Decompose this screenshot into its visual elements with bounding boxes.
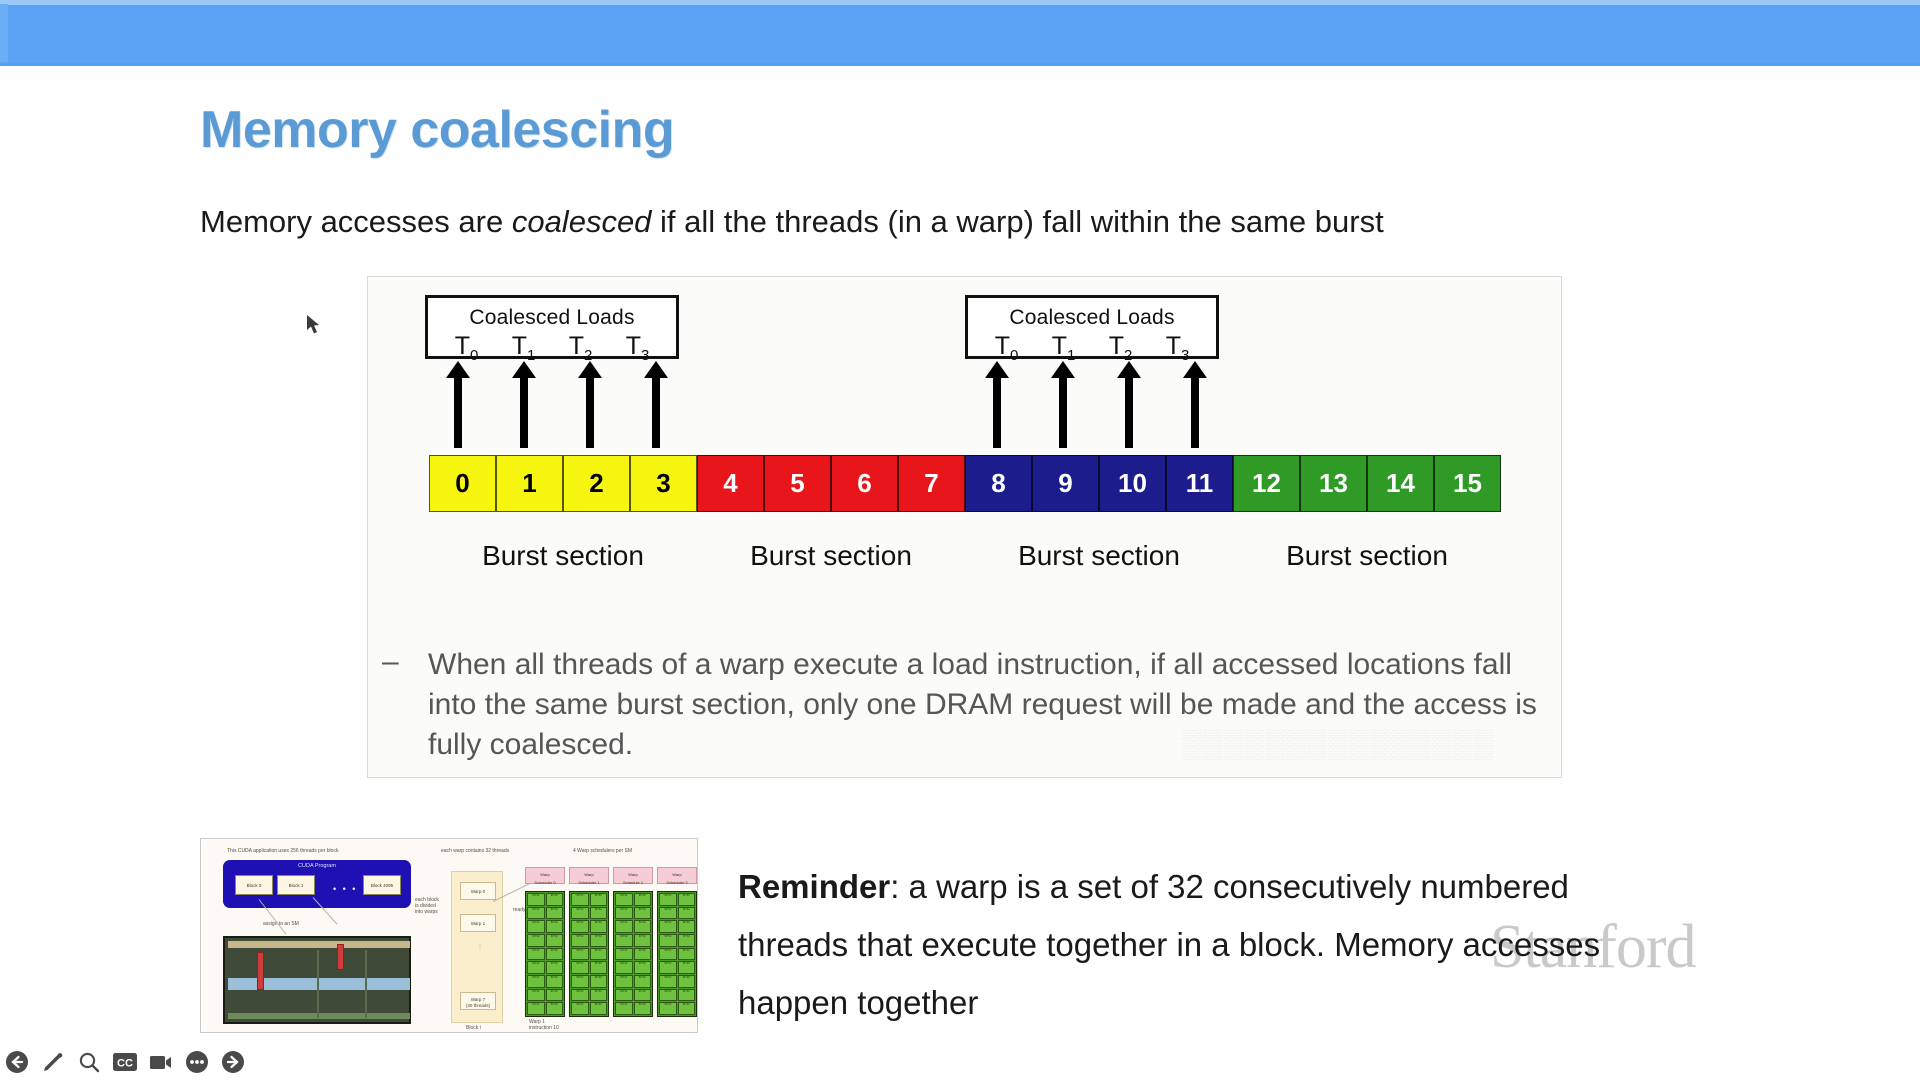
coalesced-loads-box-left: Coalesced Loads T0 T1 T2 T3: [425, 295, 679, 359]
reminder-label: Reminder: [738, 868, 890, 905]
forward-arrow-icon[interactable]: [220, 1049, 246, 1075]
player-toolbar: CC: [0, 1044, 1920, 1080]
sm-core-cell: INT32: [527, 961, 545, 974]
sm-core-cell: INT32: [546, 975, 564, 988]
burst-section-label-3: Burst section: [965, 540, 1233, 572]
reminder-paragraph: Reminder: a warp is a set of 32 consecut…: [738, 858, 1688, 1032]
sm-core-cell: INT32: [634, 934, 652, 947]
block-ellipsis: • • •: [333, 884, 357, 894]
thread-labels-row: T0 T1 T2 T3: [428, 332, 676, 364]
warp-instruction-label: Warp 1instruction 10: [529, 1019, 559, 1031]
sm-core-cell: INT32: [571, 975, 589, 988]
subtitle-part-1: Memory accesses are: [200, 204, 512, 239]
coalesced-loads-box-right: Coalesced Loads T0 T1 T2 T3: [965, 295, 1219, 359]
sm-core-cell: INT32: [571, 961, 589, 974]
each-block-note: each blockis dividedinto warps: [415, 897, 445, 915]
sm-core-cell: INT32: [634, 975, 652, 988]
sm-core-cell: INT32: [615, 1002, 633, 1015]
sm-core-cell: INT32: [590, 907, 608, 920]
sm-core-cell: INT32: [634, 961, 652, 974]
sm-core-cell: INT32: [659, 893, 677, 906]
subtitle-part-2: if all the threads (in a warp) fall with…: [651, 204, 1383, 239]
burst-section-label-2: Burst section: [697, 540, 965, 572]
sm-core-cell: INT32: [678, 989, 696, 1002]
memory-cell-15: 15: [1434, 455, 1501, 512]
slide-subtitle: Memory accesses are coalesced if all the…: [200, 204, 1384, 240]
memory-cell-13: 13: [1300, 455, 1367, 512]
sm-core-cell: INT32: [634, 948, 652, 961]
sm-core-cell: INT32: [590, 1002, 608, 1015]
sm-core-cell: INT32: [527, 989, 545, 1002]
sm-core-cell: INT32: [634, 907, 652, 920]
thread-label-t0: T0: [995, 332, 1019, 364]
memory-cell-2: 2: [563, 455, 630, 512]
burst-section-label-1: Burst section: [429, 540, 697, 572]
sm-core-cell: INT32: [590, 920, 608, 933]
sm-core-cell: INT32: [546, 989, 564, 1002]
thumbnail-caption-right: 4 Warp schedulers per SM: [573, 848, 632, 854]
sm-core-cell: INT32: [546, 920, 564, 933]
block-4095-box: Block 4095: [363, 875, 401, 895]
sm-core-cell: INT32: [615, 893, 633, 906]
memory-cell-5: 5: [764, 455, 831, 512]
sm-core-cell: INT32: [527, 1002, 545, 1015]
sm-core-cell: INT32: [634, 1002, 652, 1015]
sm-highlight-marker: [337, 944, 344, 970]
sm-core-cell: INT32: [590, 989, 608, 1002]
sm-core-cell: INT32: [634, 893, 652, 906]
sm-core-cell: INT32: [615, 934, 633, 947]
pencil-icon[interactable]: [40, 1049, 66, 1075]
load-arrow-t1-right: [1059, 376, 1067, 448]
load-arrow-t2: [586, 376, 594, 448]
warp-7-box: Warp 7(30 threads): [460, 992, 496, 1010]
back-arrow-icon[interactable]: [4, 1049, 30, 1075]
sm-core-cell: INT32: [634, 989, 652, 1002]
memory-cell-4: 4: [697, 455, 764, 512]
sm-core-grid-0: INT32INT32INT32INT32INT32INT32INT32INT32…: [525, 891, 565, 1017]
sm-core-cell: INT32: [571, 907, 589, 920]
sm-core-cell: INT32: [659, 920, 677, 933]
warp-1-box: Warp 1: [460, 914, 496, 932]
sm-core-cell: INT32: [659, 961, 677, 974]
sm-core-cell: INT32: [571, 893, 589, 906]
sm-core-cell: INT32: [590, 934, 608, 947]
sm-core-cell: INT32: [678, 920, 696, 933]
coalesced-loads-title: Coalesced Loads: [428, 306, 676, 330]
sm-core-cell: INT32: [634, 920, 652, 933]
thread-label-t3: T3: [1166, 332, 1190, 364]
memory-cell-3: 3: [630, 455, 697, 512]
sm-core-cell: INT32: [546, 1002, 564, 1015]
sm-core-cell: INT32: [659, 934, 677, 947]
memory-cell-10: 10: [1099, 455, 1166, 512]
sm-core-cell: INT32: [527, 893, 545, 906]
banner-left-edge: [0, 4, 8, 62]
faint-watermark-text: ▒▒▒▒▒▒▒▒▒▒▒▒▒▒▒: [1182, 728, 1495, 760]
die-column: [317, 950, 319, 1018]
banner-top-edge: [0, 0, 1920, 5]
sm-core-cell: INT32: [571, 948, 589, 961]
sm-core-cell: INT32: [571, 920, 589, 933]
warp-scheduler-1: WarpScheduler 1: [569, 867, 609, 884]
sm-core-cell: INT32: [678, 893, 696, 906]
memory-cell-8: 8: [965, 455, 1032, 512]
sm-core-cell: INT32: [546, 948, 564, 961]
sm-core-cell: INT32: [590, 961, 608, 974]
sm-core-cell: INT32: [527, 920, 545, 933]
warp-scheduler-2: WarpSchedule 2: [613, 867, 653, 884]
sm-core-cell: INT32: [527, 934, 545, 947]
load-arrow-t0: [454, 376, 462, 448]
sm-core-cell: INT32: [659, 975, 677, 988]
sm-core-cell: INT32: [590, 975, 608, 988]
thumbnail-caption-mid: each warp contains 32 threads: [441, 848, 509, 854]
sm-core-cell: INT32: [678, 948, 696, 961]
block-1-box: Block 1: [277, 875, 315, 895]
load-arrow-t1: [520, 376, 528, 448]
sm-core-cell: INT32: [615, 948, 633, 961]
svg-text:CC: CC: [117, 1058, 133, 1070]
warp-vertical-ellipsis: ⋮: [477, 944, 483, 951]
memory-cell-12: 12: [1233, 455, 1300, 512]
thread-label-t0: T0: [455, 332, 479, 364]
warp-scheduler-3: WarpScheduler 3: [657, 867, 697, 884]
sm-core-cell: INT32: [571, 1002, 589, 1015]
sm-core-cell: INT32: [615, 920, 633, 933]
sm-core-cell: INT32: [615, 907, 633, 920]
die-top-strip: [228, 941, 410, 948]
memory-cell-14: 14: [1367, 455, 1434, 512]
thread-labels-row: T0 T1 T2 T3: [968, 332, 1216, 364]
sm-core-cell: INT32: [659, 989, 677, 1002]
sm-core-cell: INT32: [527, 948, 545, 961]
magnifier-icon[interactable]: [76, 1049, 102, 1075]
page-title: Memory coalescing: [200, 100, 674, 160]
sm-core-cell: INT32: [546, 907, 564, 920]
sm-core-cell: INT32: [659, 1002, 677, 1015]
memory-cell-9: 9: [1032, 455, 1099, 512]
die-bottom-strip: [228, 1013, 410, 1019]
sm-core-cell: INT32: [527, 975, 545, 988]
memory-cell-11: 11: [1166, 455, 1233, 512]
thread-label-t3: T3: [626, 332, 650, 364]
sm-core-cell: INT32: [659, 907, 677, 920]
warp-0-box: Warp 0: [460, 882, 496, 900]
reminder-colon: :: [890, 868, 899, 905]
closed-caption-icon[interactable]: CC: [112, 1049, 138, 1075]
sm-core-grid-2: INT32INT32INT32INT32INT32INT32INT32INT32…: [613, 891, 653, 1017]
gpu-die-photo: [223, 936, 411, 1024]
sm-core-cell: INT32: [678, 975, 696, 988]
thumbnail-caption-left: This CUDA application uses 256 threads p…: [227, 848, 338, 854]
sm-core-grid-1: INT32INT32INT32INT32INT32INT32INT32INT32…: [569, 891, 609, 1017]
bullet-dash-marker: –: [382, 645, 399, 679]
sm-core-cell: INT32: [615, 989, 633, 1002]
sm-core-cell: INT32: [678, 934, 696, 947]
mouse-cursor-icon: [306, 315, 320, 333]
cuda-program-label: CUDA Program: [223, 863, 411, 869]
subtitle-emphasis: coalesced: [512, 204, 652, 239]
memory-blocks-strip: 0123456789101112131415: [429, 455, 1501, 512]
sm-core-grid-3: INT32INT32INT32INT32INT32INT32INT32INT32…: [657, 891, 697, 1017]
sm-core-cell: INT32: [527, 907, 545, 920]
memory-cell-1: 1: [496, 455, 563, 512]
sm-highlight-marker: [257, 952, 264, 990]
video-camera-icon[interactable]: [148, 1049, 174, 1075]
sm-core-cell: INT32: [546, 961, 564, 974]
sm-core-cell: INT32: [571, 934, 589, 947]
memory-cell-6: 6: [831, 455, 898, 512]
load-arrow-t0-right: [993, 376, 1001, 448]
top-banner: [0, 0, 1920, 66]
memory-cell-7: 7: [898, 455, 965, 512]
sm-core-cell: INT32: [590, 948, 608, 961]
sm-core-cell: INT32: [590, 893, 608, 906]
ready-label: ready: [513, 907, 526, 913]
sm-core-cell: INT32: [678, 1002, 696, 1015]
sm-core-cell: INT32: [546, 934, 564, 947]
slide-page: Memory coalescing Memory accesses are co…: [0, 0, 1920, 1080]
load-arrow-t3: [652, 376, 660, 448]
die-column: [365, 950, 367, 1018]
block-i-label: Block i: [466, 1025, 481, 1031]
load-arrow-t3-right: [1191, 376, 1199, 448]
sm-core-cell: INT32: [659, 948, 677, 961]
sm-core-cell: INT32: [615, 975, 633, 988]
banner-bottom-edge: [0, 63, 1920, 66]
warp-list-column: Warp 0 Warp 1 ⋮ Warp 7(30 threads): [451, 871, 503, 1023]
sm-core-cell: INT32: [546, 893, 564, 906]
ellipsis-icon[interactable]: [184, 1049, 210, 1075]
thread-label-t1: T1: [512, 332, 536, 364]
thread-label-t2: T2: [1109, 332, 1133, 364]
sm-core-cell: INT32: [571, 989, 589, 1002]
die-sm-band: [228, 978, 410, 990]
warp-scheduler-0: WarpScheduler 0: [525, 867, 565, 884]
burst-section-label-4: Burst section: [1233, 540, 1501, 572]
cuda-warp-thumbnail[interactable]: This CUDA application uses 256 threads p…: [200, 838, 698, 1033]
load-arrow-t2-right: [1125, 376, 1133, 448]
thread-label-t1: T1: [1052, 332, 1076, 364]
memory-cell-0: 0: [429, 455, 496, 512]
sm-core-cell: INT32: [678, 961, 696, 974]
block-0-box: Block 0: [235, 875, 273, 895]
coalesced-loads-title: Coalesced Loads: [968, 306, 1216, 330]
sm-core-cell: INT32: [615, 961, 633, 974]
thread-label-t2: T2: [569, 332, 593, 364]
sm-core-cell: INT32: [678, 907, 696, 920]
